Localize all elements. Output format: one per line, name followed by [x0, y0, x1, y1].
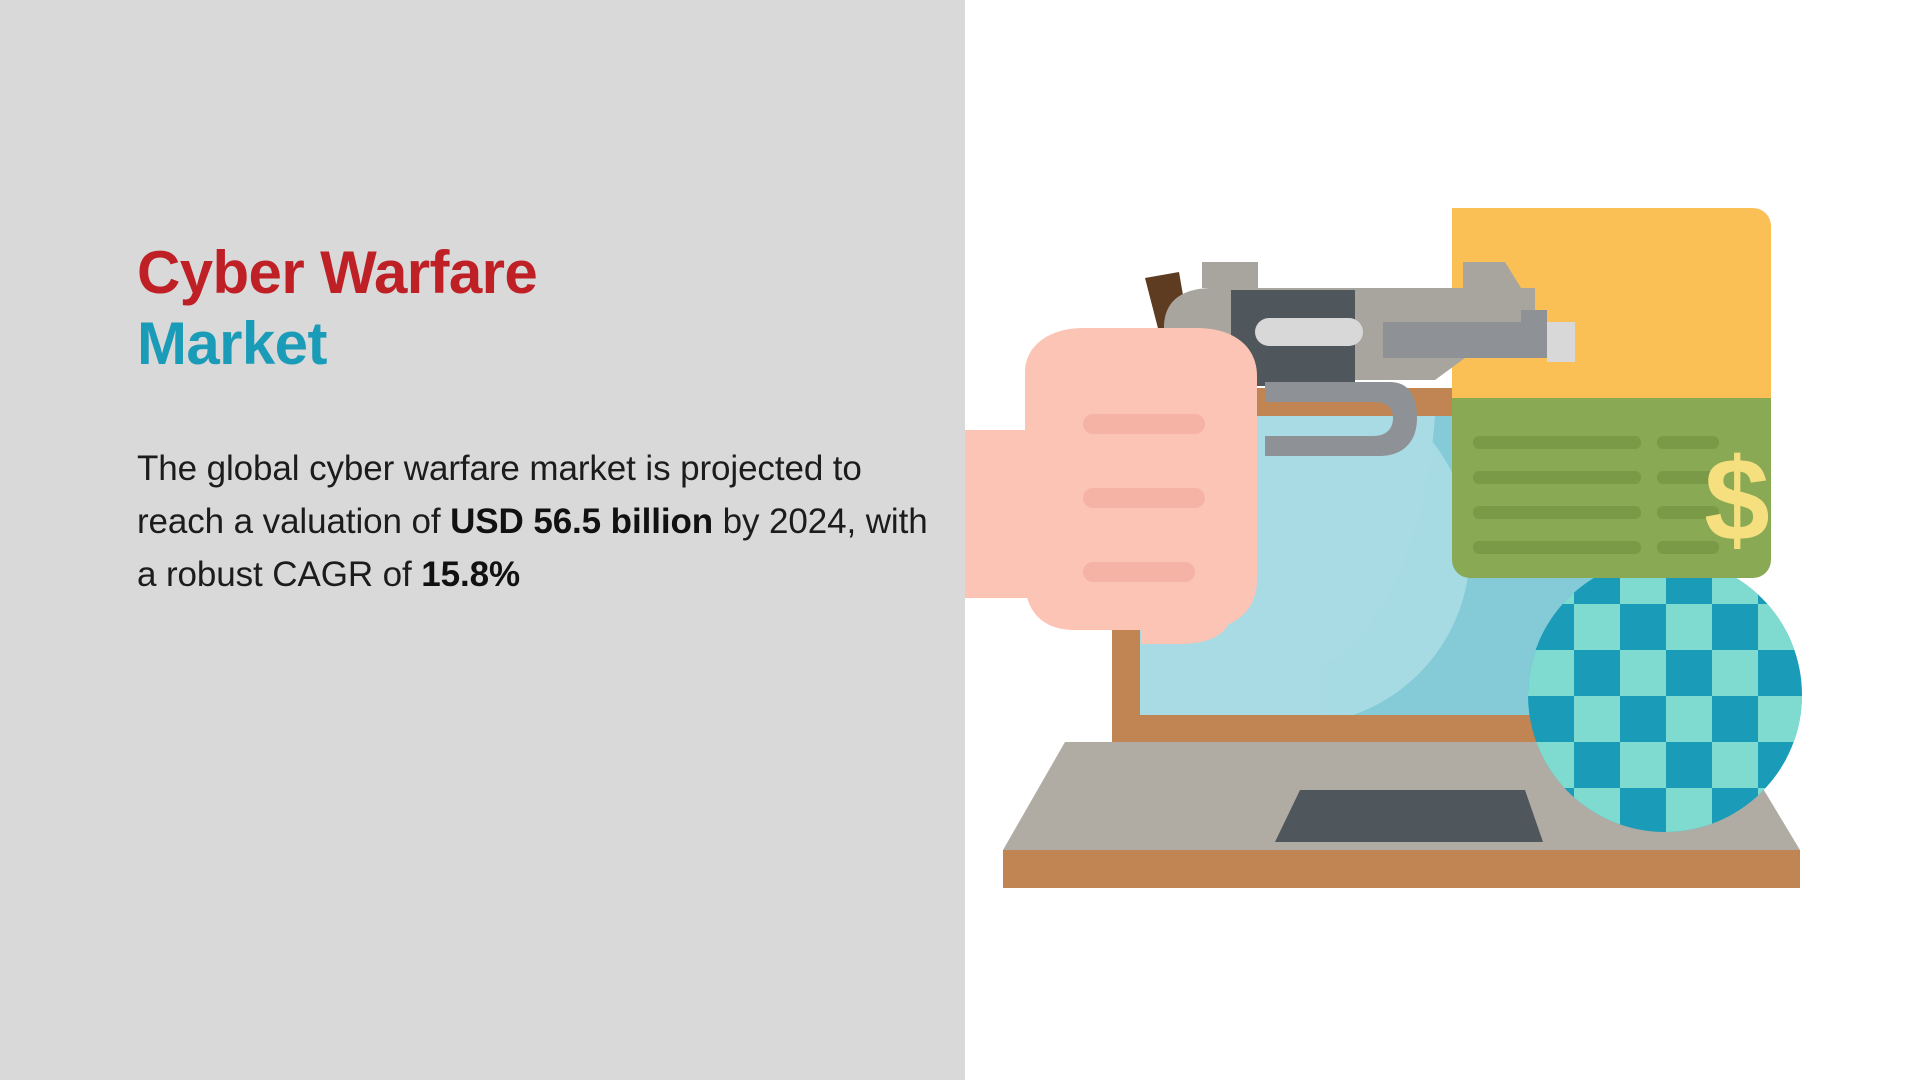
gun-muzzle: [1547, 322, 1575, 362]
laptop-front-edge: [1003, 850, 1800, 888]
gun-barrel-lower-step: [1521, 310, 1547, 358]
laptop-trackpad: [1275, 790, 1543, 842]
gun-rear-sight: [1202, 262, 1258, 288]
poster-canvas: Cyber Warfare Market The global cyber wa…: [0, 0, 1920, 1080]
dollar-sign-icon: $: [1704, 434, 1770, 566]
body-paragraph: The global cyber warfare market is proje…: [137, 442, 947, 602]
left-text-panel: Cyber Warfare Market The global cyber wa…: [0, 0, 965, 1080]
title-line-secondary: Market: [137, 309, 917, 380]
hand: [965, 328, 1257, 644]
page-title: Cyber Warfare Market: [137, 238, 917, 380]
gun-cylinder-slot: [1255, 318, 1363, 346]
body-segment-2-bold: USD 56.5 billion: [450, 502, 713, 541]
cyber-warfare-illustration: $: [965, 150, 1920, 910]
title-line-primary: Cyber Warfare: [137, 238, 917, 309]
right-illustration-panel: $: [965, 0, 1920, 1080]
body-segment-4-bold: 15.8%: [421, 555, 520, 594]
text-block: Cyber Warfare Market The global cyber wa…: [137, 238, 917, 601]
